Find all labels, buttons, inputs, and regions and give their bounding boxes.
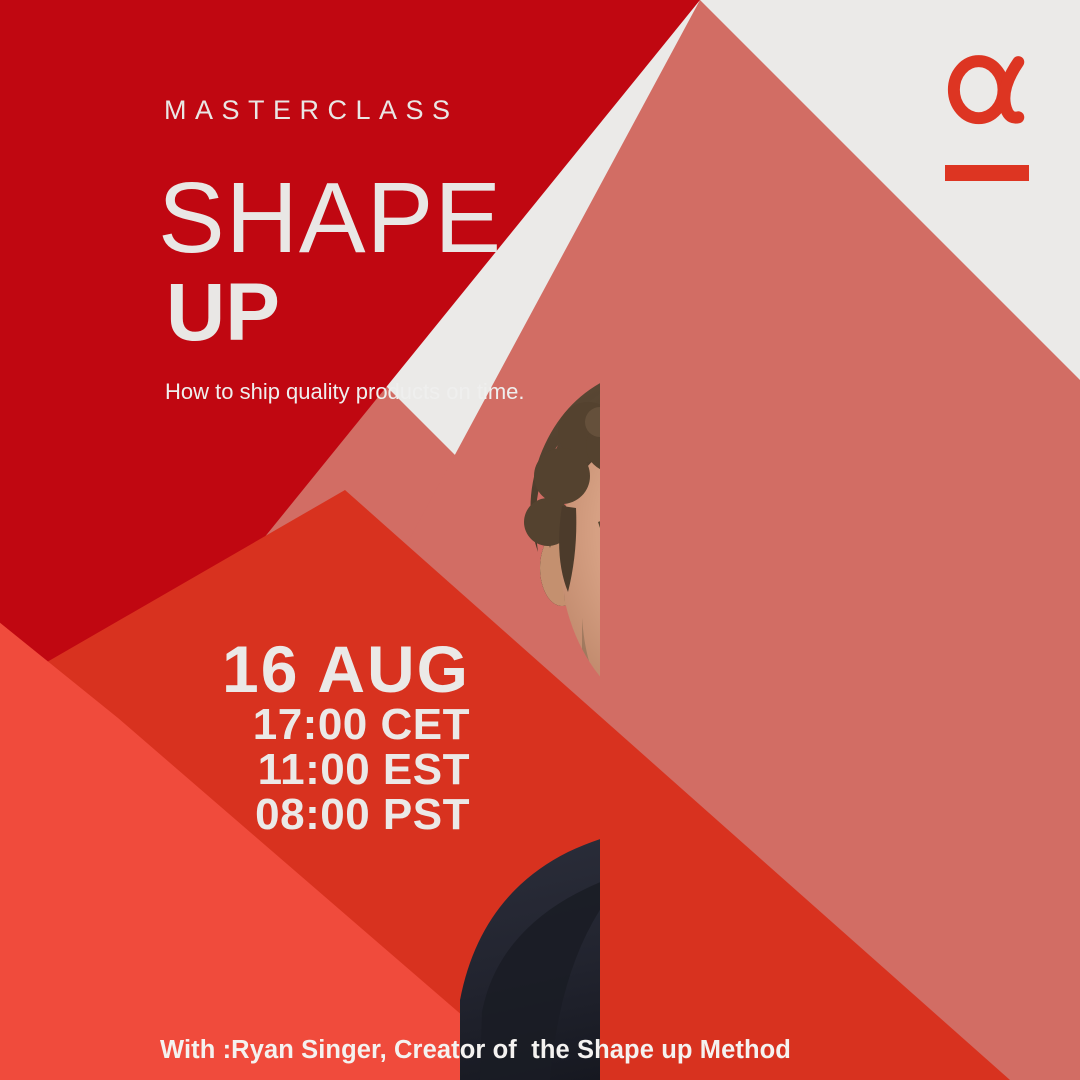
brand-underline <box>945 165 1029 181</box>
event-datetime-block: 16 AUG 17:00 CET 11:00 EST 08:00 PST <box>0 636 470 838</box>
alpha-glyph-svg <box>941 40 1033 132</box>
poster-canvas: MASTERCLASS SHAPE UP How to ship quality… <box>0 0 1080 1080</box>
alpha-icon <box>941 40 1033 132</box>
event-date: 16 AUG <box>0 636 470 703</box>
page-title-line2: UP <box>166 272 280 354</box>
speaker-credit: With :Ryan Singer, Creator of the Shape … <box>160 1038 791 1064</box>
event-time-est: 11:00 EST <box>0 748 470 793</box>
kicker-label: MASTERCLASS <box>164 97 459 124</box>
event-time-cet: 17:00 CET <box>0 703 470 748</box>
event-time-pst: 08:00 PST <box>0 793 470 838</box>
page-title-line1: SHAPE <box>158 168 502 268</box>
subtitle: How to ship quality products on time. <box>165 381 525 403</box>
brand-mark <box>941 40 1041 185</box>
